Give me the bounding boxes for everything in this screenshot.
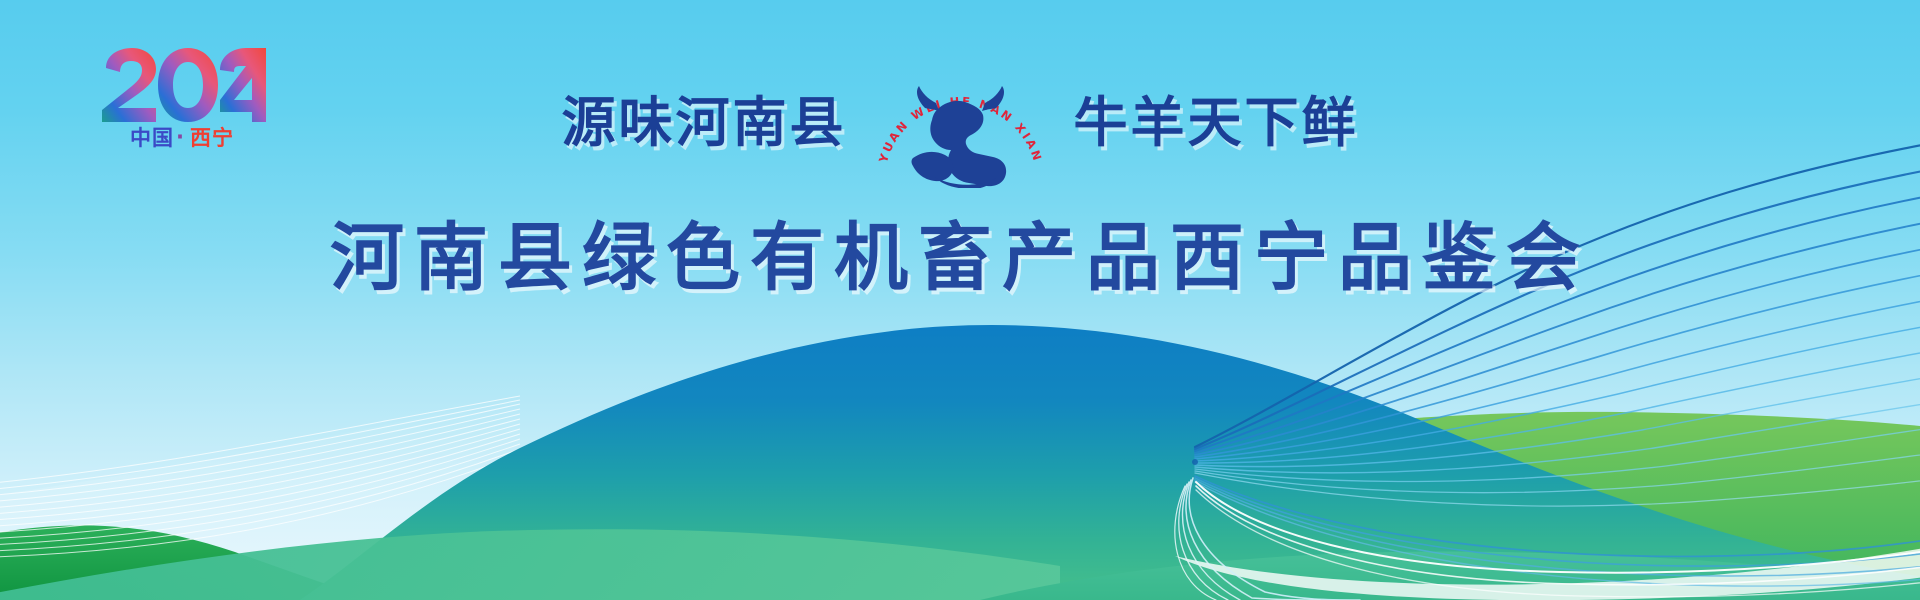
year-24-mark: [220, 48, 266, 122]
host-location-xining: 西宁: [190, 126, 234, 148]
event-banner: 中国 · 西宁 源味河南县 YUAN WEI HE NAN XIAN: [0, 0, 1920, 600]
brand-text-right: 牛羊天下鲜: [1074, 96, 1359, 150]
page-title: 河南县绿色有机畜产品西宁品鉴会: [0, 218, 1920, 299]
yak-silhouette: [911, 86, 1006, 188]
ribbon-node: [1192, 459, 1198, 465]
host-location-cn: 中国: [130, 126, 174, 148]
yak-emblem: YUAN WEI HE NAN XIAN: [873, 58, 1048, 188]
brand-text-left: 源味河南县: [562, 96, 847, 150]
host-logo: 中国 · 西宁: [100, 48, 270, 148]
host-location-dot: ·: [176, 125, 184, 148]
